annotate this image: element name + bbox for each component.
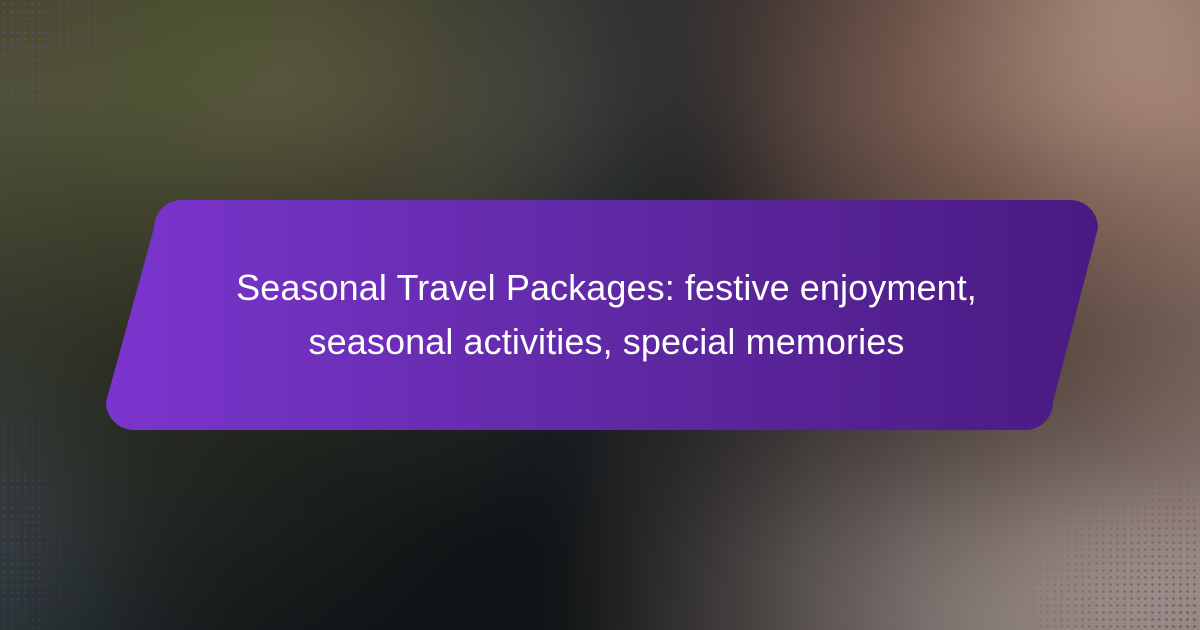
headline-text-block: Seasonal Travel Packages: festive enjoym… [95, 195, 1110, 435]
page-title: Seasonal Travel Packages: festive enjoym… [221, 261, 992, 369]
banner-canvas: Seasonal Travel Packages: festive enjoym… [0, 0, 1200, 630]
headline-card: Seasonal Travel Packages: festive enjoym… [95, 195, 1110, 435]
